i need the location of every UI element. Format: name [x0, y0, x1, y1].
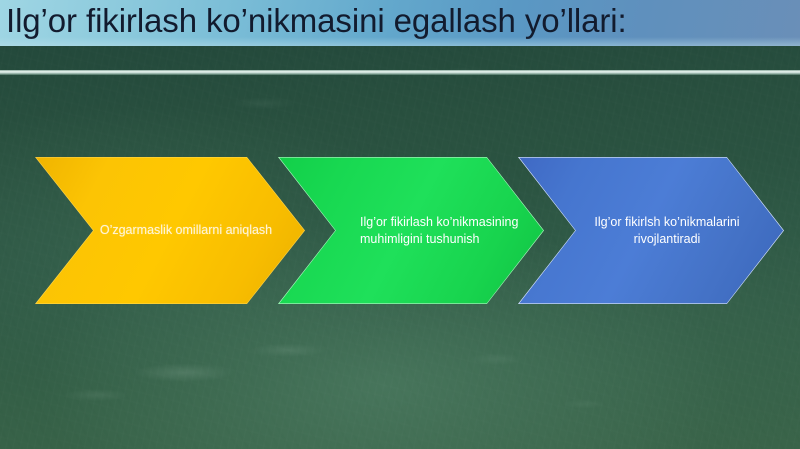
title-divider-rule: [0, 70, 800, 75]
title-band: Ilg’or fikirlash ko’nikmasini egallash y…: [0, 0, 800, 46]
presentation-slide: Ilg’or fikirlash ko’nikmasini egallash y…: [0, 0, 800, 449]
slide-title: Ilg’or fikirlash ko’nikmasini egallash y…: [6, 0, 627, 44]
